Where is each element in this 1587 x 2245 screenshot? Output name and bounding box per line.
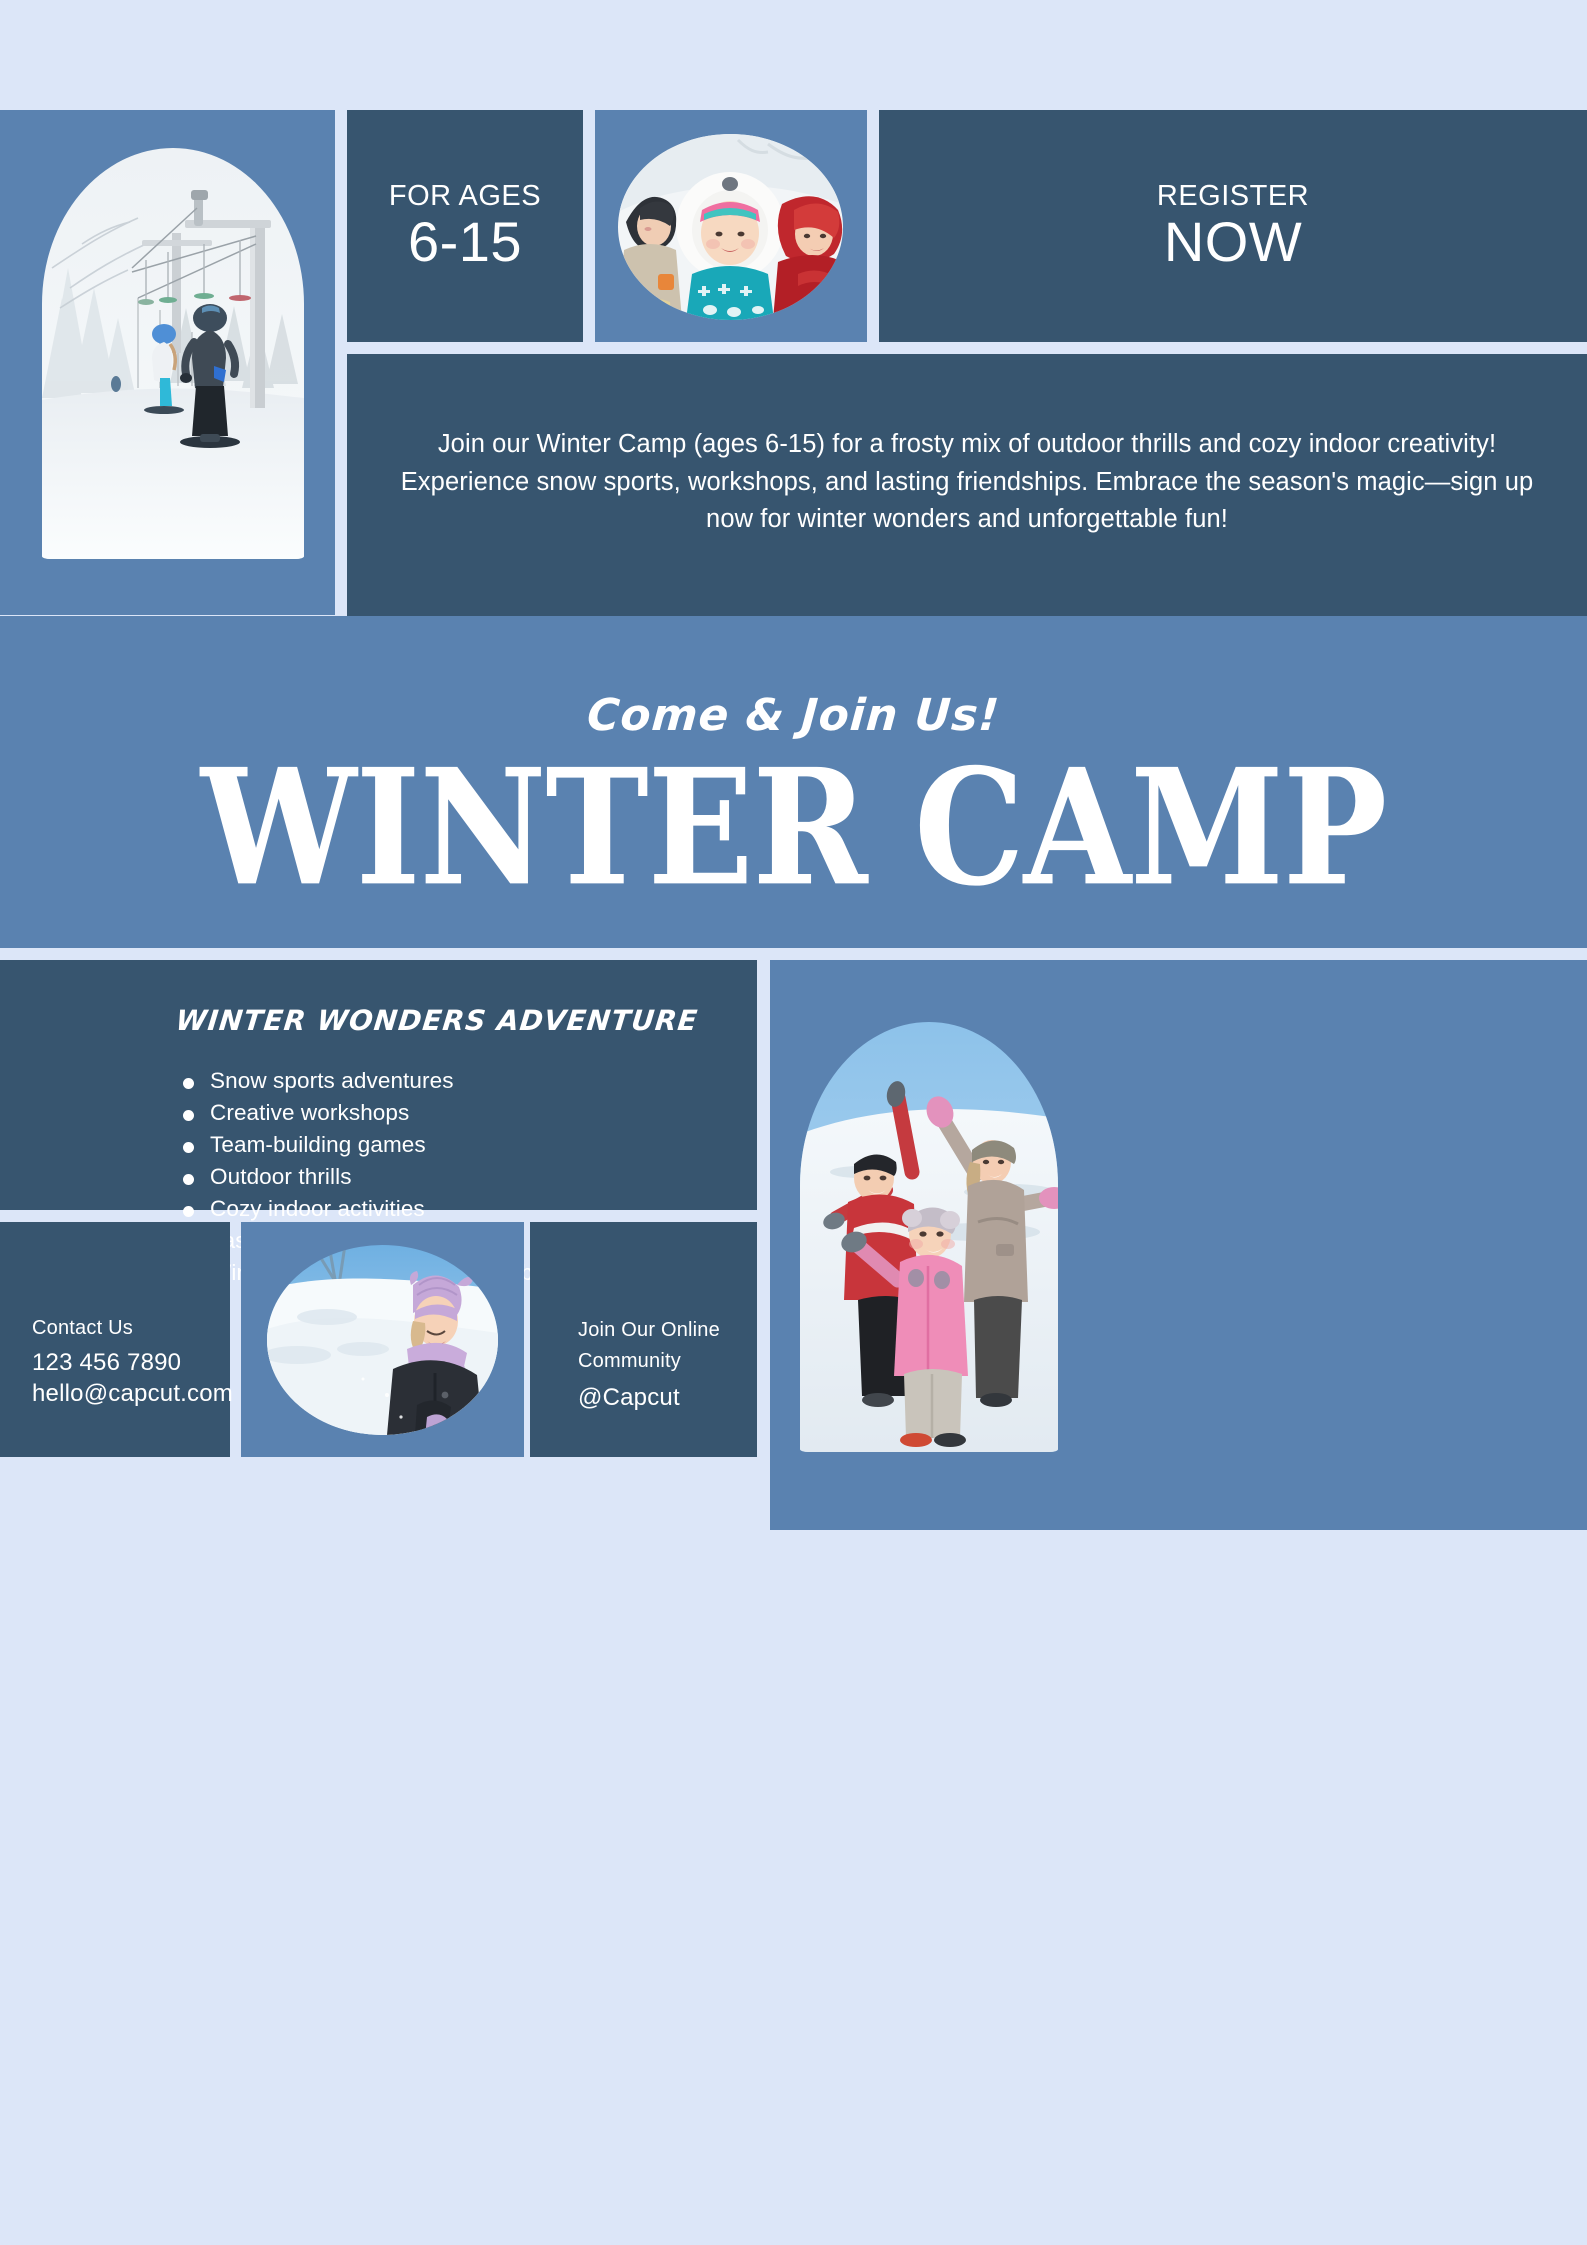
list-item: Team-building games — [176, 1134, 595, 1157]
community-heading-line2: Community — [578, 1350, 720, 1373]
contact-info: Contact Us 123 456 7890 hello@capcut.com — [32, 1317, 233, 1409]
register-now-panel[interactable]: REGISTER NOW — [879, 110, 1587, 342]
girl-photo — [267, 1245, 498, 1435]
contact-heading: Contact Us — [32, 1317, 233, 1340]
features-heading: WINTER WONDERS ADVENTURE — [174, 1004, 699, 1037]
list-item: Snow sports adventures — [176, 1070, 595, 1093]
list-item: Cozy indoor activities — [176, 1198, 595, 1221]
community-panel: Join Our Online Community @Capcut — [530, 1222, 757, 1457]
community-handle[interactable]: @Capcut — [578, 1383, 720, 1414]
three-kids-photo — [618, 134, 843, 320]
list-item: Outdoor thrills — [176, 1166, 595, 1189]
contact-panel: Contact Us 123 456 7890 hello@capcut.com — [0, 1222, 230, 1457]
list-item: Creative workshops — [176, 1102, 595, 1125]
contact-email[interactable]: hello@capcut.com — [32, 1379, 233, 1410]
poster-canvas: FOR AGES 6-15 — [0, 0, 1587, 2245]
for-ages-panel: FOR AGES 6-15 — [347, 110, 583, 342]
description-text: Join our Winter Camp (ages 6-15) for a f… — [393, 426, 1541, 539]
page-title: WINTER CAMP — [0, 748, 1587, 908]
community-heading-line1: Join Our Online — [578, 1319, 720, 1342]
ski-lift-photo — [42, 148, 304, 559]
description-panel: Join our Winter Camp (ages 6-15) for a f… — [347, 354, 1587, 616]
title-band: Come & Join Us! WINTER CAMP — [0, 616, 1587, 948]
for-ages-value: 6-15 — [347, 213, 583, 272]
contact-phone[interactable]: 123 456 7890 — [32, 1348, 233, 1379]
register-value: NOW — [879, 213, 1587, 272]
kids-playing-photo — [800, 1022, 1058, 1452]
community-info: Join Our Online Community @Capcut — [578, 1319, 720, 1414]
for-ages-label: FOR AGES — [347, 180, 583, 213]
register-label: REGISTER — [879, 180, 1587, 213]
features-panel: WINTER WONDERS ADVENTURE Snow sports adv… — [0, 960, 757, 1210]
